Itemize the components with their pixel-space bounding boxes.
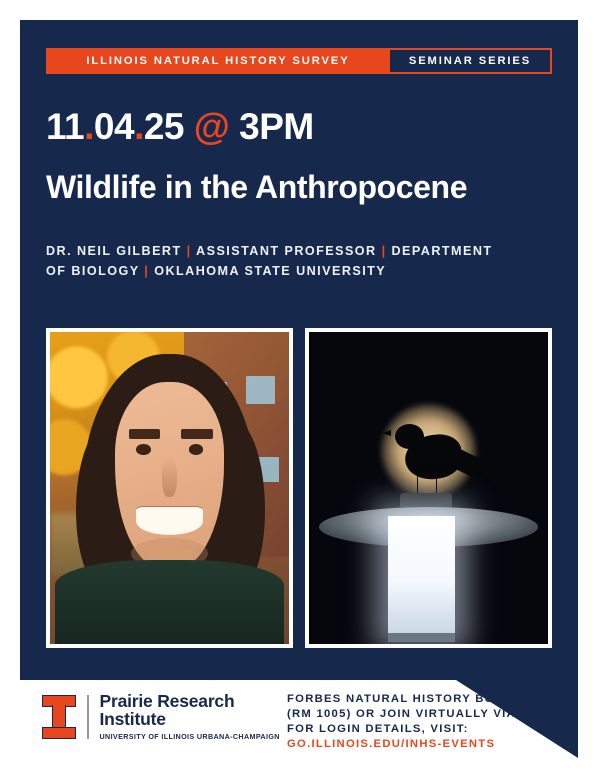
speaker-name: DR. NEIL GILBERT — [46, 244, 182, 258]
location-line-1: FORBES NATURAL HISTORY — [287, 693, 471, 705]
separator-pipe-3: | — [144, 264, 149, 278]
nose — [162, 457, 176, 498]
at-symbol-icon: @ — [194, 106, 230, 147]
building-window — [246, 376, 275, 404]
lamp-cap — [400, 493, 453, 507]
bird-head — [395, 424, 424, 449]
bird-beak — [382, 430, 391, 436]
date-month: 11 — [46, 106, 84, 147]
speaker-role: ASSISTANT PROFESSOR — [196, 244, 377, 258]
date-day: 04 — [94, 106, 134, 147]
poster-footer: Prairie Research Institute UNIVERSITY OF… — [20, 680, 578, 758]
bird-on-streetlamp — [309, 332, 548, 644]
prairie-research-institute-logo: Prairie Research Institute UNIVERSITY OF… — [42, 692, 280, 741]
speaker-portrait-frame — [46, 328, 293, 648]
banner-organization-label: ILLINOIS NATURAL HISTORY SURVEY — [46, 48, 390, 74]
illinois-block-i-icon — [42, 695, 76, 739]
logo-name-line-1: Prairie Research — [100, 692, 280, 710]
eyebrow-left — [129, 429, 160, 439]
location-and-access-info: FORBES NATURAL HISTORY BUILDING (RM 1005… — [287, 692, 567, 752]
eye-right — [189, 444, 204, 455]
logo-tagline: UNIVERSITY OF ILLINOIS URBANA-CHAMPAIGN — [100, 732, 280, 741]
login-details-prompt: FOR LOGIN DETAILS, VISIT: — [287, 723, 469, 735]
smile — [136, 507, 203, 535]
logo-name-line-2: Institute — [100, 710, 280, 728]
speaker-portrait — [50, 332, 289, 644]
date-dot-1: . — [84, 106, 94, 147]
header-banner: ILLINOIS NATURAL HISTORY SURVEY SEMINAR … — [46, 48, 552, 74]
events-url[interactable]: GO.ILLINOIS.EDU/INHS-EVENTS — [287, 737, 567, 752]
lamp-base — [388, 633, 455, 642]
date-year: 25 — [144, 106, 184, 147]
event-date-time: 11.04.25 @ 3PM — [46, 106, 314, 148]
seminar-poster: ILLINOIS NATURAL HISTORY SURVEY SEMINAR … — [20, 20, 578, 758]
location-line-3: VIRTUALLY VIA ZOOM — [416, 708, 559, 720]
banner-series-label: SEMINAR SERIES — [390, 50, 550, 72]
speaker-institution: OKLAHOMA STATE UNIVERSITY — [154, 264, 386, 278]
date-dot-2: . — [134, 106, 144, 147]
green-sweater — [55, 560, 284, 644]
block-i-bottom-bar — [42, 727, 76, 739]
lamp-glow — [388, 516, 455, 635]
logo-text: Prairie Research Institute UNIVERSITY OF… — [100, 692, 280, 741]
logo-divider — [87, 695, 89, 739]
speaker-credentials: DR. NEIL GILBERT | ASSISTANT PROFESSOR |… — [46, 242, 516, 281]
eye-left — [136, 444, 151, 455]
page-title: Wildlife in the Anthropocene — [46, 170, 556, 205]
event-time: 3PM — [239, 106, 314, 147]
bird-photo-frame — [305, 328, 552, 648]
separator-pipe-2: | — [382, 244, 387, 258]
poster-main-panel: ILLINOIS NATURAL HISTORY SURVEY SEMINAR … — [20, 20, 578, 680]
eyebrow-right — [181, 429, 212, 439]
photo-row — [46, 328, 552, 648]
separator-pipe-1: | — [187, 244, 192, 258]
